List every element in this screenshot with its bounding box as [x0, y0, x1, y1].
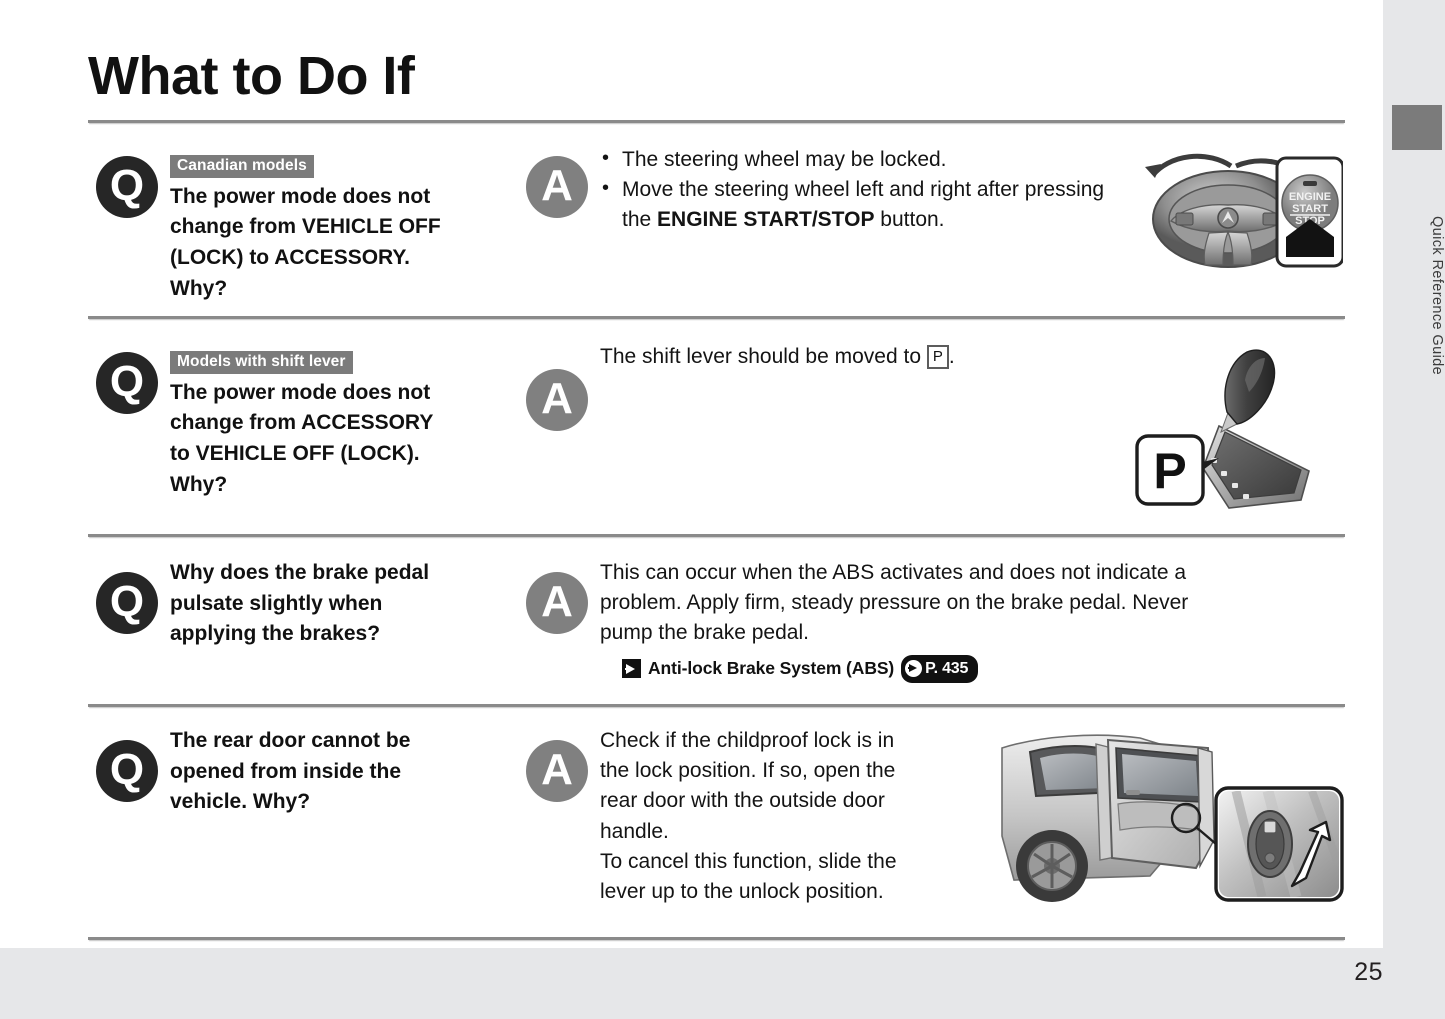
bullet-text-bold: ENGINE START/STOP: [657, 208, 874, 231]
page-number: 25: [1354, 958, 1383, 987]
question-line: opened from inside the: [170, 757, 510, 788]
answer-line: handle.: [600, 817, 985, 847]
rear-door-childproof-lock-illustration: [1000, 726, 1345, 906]
question-line: The power mode does not: [170, 378, 510, 409]
answer-text: Check if the childproof lock is in the l…: [600, 726, 985, 907]
question-text: The rear door cannot be opened from insi…: [170, 726, 510, 818]
cross-reference-label: Anti-lock Brake System (ABS): [648, 656, 894, 681]
answer-text-pre: The shift lever should be moved to: [600, 345, 927, 368]
question-line: Why?: [170, 274, 510, 305]
answer-line: rear door with the outside door: [600, 786, 985, 816]
park-indicator: P: [927, 345, 949, 369]
answer-marker: A: [526, 156, 588, 218]
answer-line: lever up to the unlock position.: [600, 877, 985, 907]
bullet-text-post: button.: [874, 208, 944, 231]
answer-line: To cancel this function, slide the: [600, 847, 985, 877]
question-line: Why?: [170, 470, 510, 501]
shift-lever-illustration: P: [1133, 340, 1345, 518]
question-line: vehicle. Why?: [170, 787, 510, 818]
jump-arrow-icon: [622, 659, 641, 678]
model-badge: Models with shift lever: [170, 351, 353, 374]
question-marker: Q: [96, 352, 158, 414]
section-tab-label: Quick Reference Guide: [1389, 150, 1445, 440]
divider-1: [88, 316, 1345, 319]
page-reference-text: P. 435: [925, 657, 968, 680]
answer-line: This can occur when the ABS activates an…: [600, 558, 1330, 588]
steering-wheel-illustration: ENGINE START STOP: [1131, 145, 1343, 275]
page-title: What to Do If: [88, 45, 414, 107]
question-line: The power mode does not: [170, 182, 510, 213]
question-text: Canadian models The power mode does not …: [170, 149, 510, 304]
question-line: applying the brakes?: [170, 619, 510, 650]
manual-page: What to Do If Q Canadian models The powe…: [0, 0, 1445, 1019]
answer-marker: A: [526, 572, 588, 634]
svg-text:P: P: [1153, 443, 1186, 499]
question-marker: Q: [96, 572, 158, 634]
question-text: Models with shift lever The power mode d…: [170, 345, 510, 500]
answer-marker: A: [526, 369, 588, 431]
answer-text: This can occur when the ABS activates an…: [600, 558, 1330, 683]
question-text: Why does the brake pedal pulsate slightl…: [170, 558, 510, 650]
model-badge: Canadian models: [170, 155, 314, 178]
page-reference-badge[interactable]: P. 435: [901, 655, 978, 683]
divider-top: [88, 120, 1345, 123]
section-tab-marker[interactable]: [1392, 105, 1442, 150]
shift-lever-svg: P: [1133, 340, 1345, 518]
question-line: Why does the brake pedal: [170, 558, 510, 589]
answer-line: Check if the childproof lock is in: [600, 726, 985, 756]
svg-text:START: START: [1292, 203, 1328, 215]
footer-band: [0, 948, 1445, 1019]
divider-bottom: [88, 937, 1345, 940]
answer-bullet: Move the steering wheel left and right a…: [600, 175, 1130, 235]
answer-text-post: .: [949, 345, 955, 368]
answer-text: The steering wheel may be locked. Move t…: [600, 145, 1130, 236]
question-marker: Q: [96, 156, 158, 218]
question-line: The rear door cannot be: [170, 726, 510, 757]
divider-2: [88, 534, 1345, 537]
question-line: change from VEHICLE OFF: [170, 212, 510, 243]
answer-line: problem. Apply firm, steady pressure on …: [600, 588, 1330, 618]
answer-line: pump the brake pedal.: [600, 618, 1330, 648]
steering-wheel-svg: ENGINE START STOP: [1131, 145, 1343, 275]
answer-bullet: The steering wheel may be locked.: [600, 145, 1130, 175]
bullet-text: The steering wheel may be locked.: [622, 148, 947, 171]
question-marker: Q: [96, 740, 158, 802]
answer-bullet-list: The steering wheel may be locked. Move t…: [600, 145, 1130, 236]
question-line: to VEHICLE OFF (LOCK).: [170, 439, 510, 470]
arrow-circle-icon: [905, 660, 922, 677]
question-line: pulsate slightly when: [170, 589, 510, 620]
answer-line: the lock position. If so, open the: [600, 756, 985, 786]
svg-text:ENGINE: ENGINE: [1289, 191, 1331, 203]
divider-3: [88, 704, 1345, 707]
question-line: change from ACCESSORY: [170, 408, 510, 439]
cross-reference[interactable]: Anti-lock Brake System (ABS) P. 435: [622, 655, 1330, 683]
rear-door-svg: [1000, 726, 1345, 906]
question-line: (LOCK) to ACCESSORY.: [170, 243, 510, 274]
answer-text: The shift lever should be moved to P.: [600, 342, 1160, 372]
answer-marker: A: [526, 740, 588, 802]
